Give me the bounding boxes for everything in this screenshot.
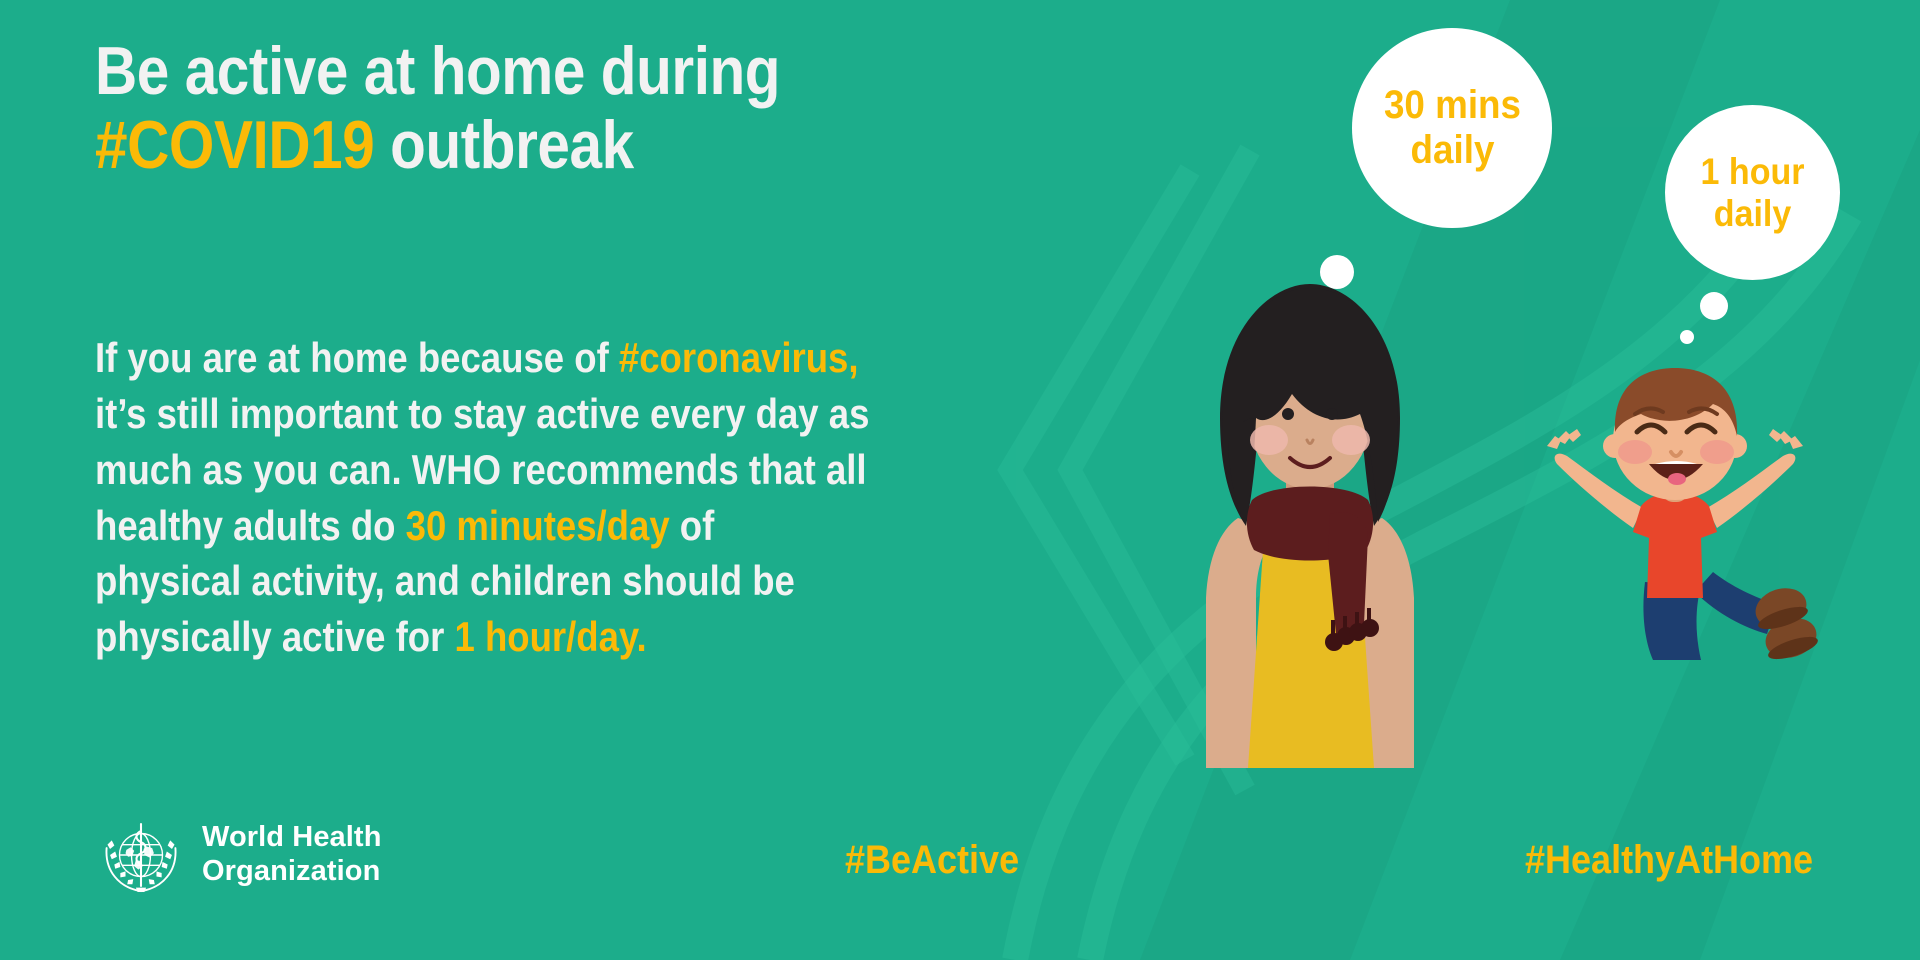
thought-bubble-dot-small-boy: [1680, 330, 1694, 344]
bubble-2-line-1: 1 hour: [1700, 151, 1804, 192]
thought-bubble-dot-large-boy: [1700, 292, 1728, 320]
body-line-5: physical activity, and children should b…: [95, 553, 913, 609]
bubble-1-line-1: 30 mins: [1383, 83, 1520, 128]
thought-bubble-one-hour-text: 1 hour daily: [1700, 151, 1804, 234]
woman-illustration: [1160, 268, 1460, 788]
boy-illustration: [1495, 360, 1855, 660]
body-line-4: healthy adults do 30 minutes/day of: [95, 498, 913, 554]
thought-bubble-thirty-mins-text: 30 mins daily: [1383, 83, 1520, 173]
body-line-3: much as you can. WHO recommends that all: [95, 442, 913, 498]
body-line-1: If you are at home because of #coronavir…: [95, 330, 913, 386]
one-hour-highlight: 1 hour/day.: [454, 613, 646, 660]
body-line-2: it’s still important to stay active ever…: [95, 386, 913, 442]
who-wordmark: World Health Organization: [202, 821, 382, 889]
headline-outbreak-text: outbreak: [374, 107, 633, 183]
headline-covid-hashtag: #COVID19: [95, 107, 374, 183]
coronavirus-hashtag: #coronavirus,: [619, 334, 859, 381]
bubble-1-line-2: daily: [1383, 128, 1520, 173]
thought-bubble-thirty-mins: 30 mins daily: [1352, 28, 1552, 228]
who-emblem-icon: [98, 812, 184, 898]
poster-canvas: Be active at home during #COVID19 outbre…: [0, 0, 1920, 960]
headline-line-1: Be active at home during: [95, 34, 869, 108]
thought-bubble-one-hour: 1 hour daily: [1665, 105, 1840, 280]
thirty-minutes-highlight: 30 minutes/day: [406, 502, 670, 549]
hashtag-be-active: #BeActive: [845, 838, 1019, 883]
bubble-2-line-2: daily: [1700, 193, 1804, 234]
body-paragraph: If you are at home because of #coronavir…: [95, 330, 913, 665]
who-name-line-2: Organization: [202, 855, 382, 889]
who-logo: World Health Organization: [98, 812, 382, 898]
hashtag-healthy-at-home: #HealthyAtHome: [1525, 838, 1813, 883]
who-name-line-1: World Health: [202, 821, 382, 855]
body-line-6: physically active for 1 hour/day.: [95, 609, 913, 665]
headline-line-2: #COVID19 outbreak: [95, 108, 869, 182]
headline-block: Be active at home during #COVID19 outbre…: [95, 34, 995, 182]
